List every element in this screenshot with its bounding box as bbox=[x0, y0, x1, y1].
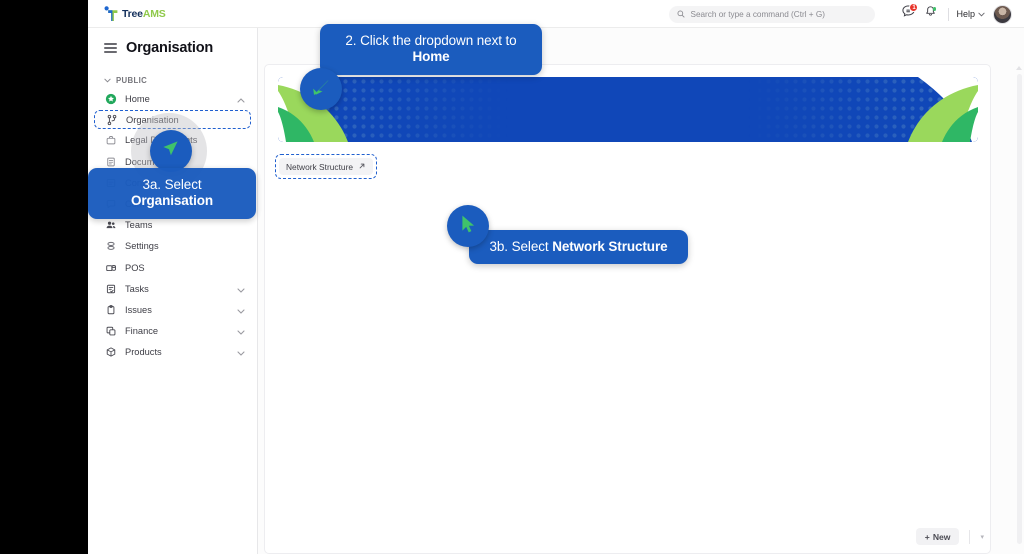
hierarchy-icon bbox=[105, 113, 118, 126]
coachmark-step3b-text: 3b. Select bbox=[489, 239, 552, 254]
plus-icon: + bbox=[925, 532, 930, 542]
briefcase-icon bbox=[104, 134, 117, 147]
sidebar-item-label: Tasks bbox=[125, 284, 149, 294]
coachmark-step3b-bold: Network Structure bbox=[552, 239, 667, 254]
sidebar-header: Organisation bbox=[88, 28, 257, 56]
coachmark-step3a-cursor bbox=[150, 130, 192, 172]
vertical-scrollbar[interactable] bbox=[1017, 74, 1022, 544]
chat-unread-badge: 1 bbox=[909, 3, 918, 12]
brand-name: TreeAMS bbox=[122, 8, 166, 20]
help-label: Help bbox=[956, 9, 975, 19]
coachmark-step2-cursor bbox=[300, 68, 342, 110]
sidebar-section-public[interactable]: PUBLIC bbox=[88, 56, 257, 89]
chevron-down-icon[interactable] bbox=[237, 280, 245, 298]
chevron-up-icon[interactable] bbox=[237, 90, 245, 108]
top-bar: TreeAMS Search or type a command (Ctrl +… bbox=[88, 0, 1024, 28]
chevron-down-icon bbox=[104, 76, 111, 85]
tab-bar: Network Structure bbox=[275, 154, 377, 179]
sidebar-item-products[interactable]: Products bbox=[94, 342, 251, 362]
topbar-divider bbox=[948, 8, 949, 21]
tab-label: Network Structure bbox=[286, 162, 353, 172]
tab-network-structure[interactable]: Network Structure bbox=[279, 158, 373, 175]
coachmark-step3b-cursor bbox=[447, 205, 489, 247]
add-new-button[interactable]: + New bbox=[916, 528, 960, 545]
cursor-arrow-up-right-icon bbox=[159, 137, 183, 166]
sidebar-item-label: Products bbox=[125, 347, 162, 357]
package-icon bbox=[104, 346, 117, 359]
chat-button[interactable]: 1 bbox=[897, 3, 919, 25]
sidebar-item-label: POS bbox=[125, 263, 145, 273]
cursor-arrow-down-left-icon bbox=[309, 75, 333, 104]
sidebar-item-finance[interactable]: Finance bbox=[94, 321, 251, 341]
coachmark-step2: 2. Click the dropdown next to Home bbox=[320, 24, 542, 75]
tree-t-logo-icon bbox=[104, 6, 119, 22]
sidebar-item-label: Home bbox=[125, 94, 150, 104]
top-bar-actions: Search or type a command (Ctrl + G) 1 bbox=[669, 0, 1024, 28]
card-footer-actions: + New ▾ bbox=[916, 528, 984, 545]
application-window: TreeAMS Search or type a command (Ctrl +… bbox=[88, 0, 1024, 554]
page-title: Organisation bbox=[126, 40, 213, 56]
chevron-down-icon[interactable] bbox=[237, 343, 245, 361]
sidebar-item-issues[interactable]: Issues bbox=[94, 300, 251, 320]
screenshot-root: TreeAMS Search or type a command (Ctrl +… bbox=[0, 0, 1024, 554]
sidebar-item-pos[interactable]: POS bbox=[94, 258, 251, 278]
main-content: Network Structure + New ▾ bbox=[258, 28, 1024, 554]
avatar[interactable] bbox=[993, 5, 1012, 24]
brand-name-part1: Tree bbox=[122, 8, 143, 20]
finance-icon bbox=[104, 325, 117, 338]
clipboard-icon bbox=[104, 303, 117, 316]
brand-logo[interactable]: TreeAMS bbox=[104, 6, 166, 22]
sidebar-item-home[interactable]: Home bbox=[94, 89, 251, 109]
scroll-up-arrow[interactable] bbox=[1016, 66, 1022, 70]
notifications-button[interactable] bbox=[919, 3, 941, 25]
chevron-down-icon[interactable] bbox=[237, 322, 245, 340]
tasks-check-icon bbox=[104, 282, 117, 295]
help-menu[interactable]: Help bbox=[956, 9, 985, 19]
coachmark-step3a-text: 3a. Select bbox=[142, 177, 201, 192]
organisation-banner-graphic bbox=[278, 77, 978, 142]
home-star-icon bbox=[104, 93, 117, 106]
hamburger-icon[interactable] bbox=[104, 43, 117, 53]
caret-down-icon[interactable]: ▾ bbox=[980, 533, 984, 541]
document-icon bbox=[104, 155, 117, 168]
tab-highlight-ring: Network Structure bbox=[275, 154, 377, 179]
search-icon bbox=[677, 5, 685, 23]
sidebar-item-settings[interactable]: Settings bbox=[94, 236, 251, 256]
coachmark-step2-bold: Home bbox=[412, 49, 449, 64]
coachmark-step3b: 3b. Select Network Structure bbox=[469, 230, 688, 264]
footer-divider bbox=[969, 530, 970, 544]
search-input[interactable]: Search or type a command (Ctrl + G) bbox=[669, 6, 875, 23]
coachmark-step2-text: 2. Click the dropdown next to bbox=[345, 33, 516, 48]
coachmark-step3a: 3a. Select Organisation bbox=[88, 168, 256, 219]
external-link-icon bbox=[358, 162, 366, 172]
teams-icon bbox=[104, 219, 117, 232]
content-card: Network Structure + New ▾ bbox=[264, 64, 991, 554]
sidebar-item-label: Finance bbox=[125, 326, 158, 336]
chevron-down-icon bbox=[978, 9, 985, 19]
sidebar: Organisation PUBLIC Home bbox=[88, 28, 258, 554]
pos-coins-icon bbox=[104, 261, 117, 274]
sidebar-item-label: Teams bbox=[125, 220, 152, 230]
sidebar-item-label: Issues bbox=[125, 305, 152, 315]
add-new-label: New bbox=[933, 532, 951, 542]
sidebar-item-label: Settings bbox=[125, 241, 159, 251]
sidebar-item-tasks[interactable]: Tasks bbox=[94, 279, 251, 299]
chevron-down-icon[interactable] bbox=[237, 301, 245, 319]
search-placeholder: Search or type a command (Ctrl + G) bbox=[690, 10, 824, 19]
sidebar-section-label: PUBLIC bbox=[116, 76, 147, 85]
brand-name-part2: AMS bbox=[143, 8, 166, 20]
coachmark-step3a-bold: Organisation bbox=[131, 193, 213, 208]
cursor-arrow-up-left-icon bbox=[456, 212, 480, 241]
settings-stack-icon bbox=[104, 240, 117, 253]
